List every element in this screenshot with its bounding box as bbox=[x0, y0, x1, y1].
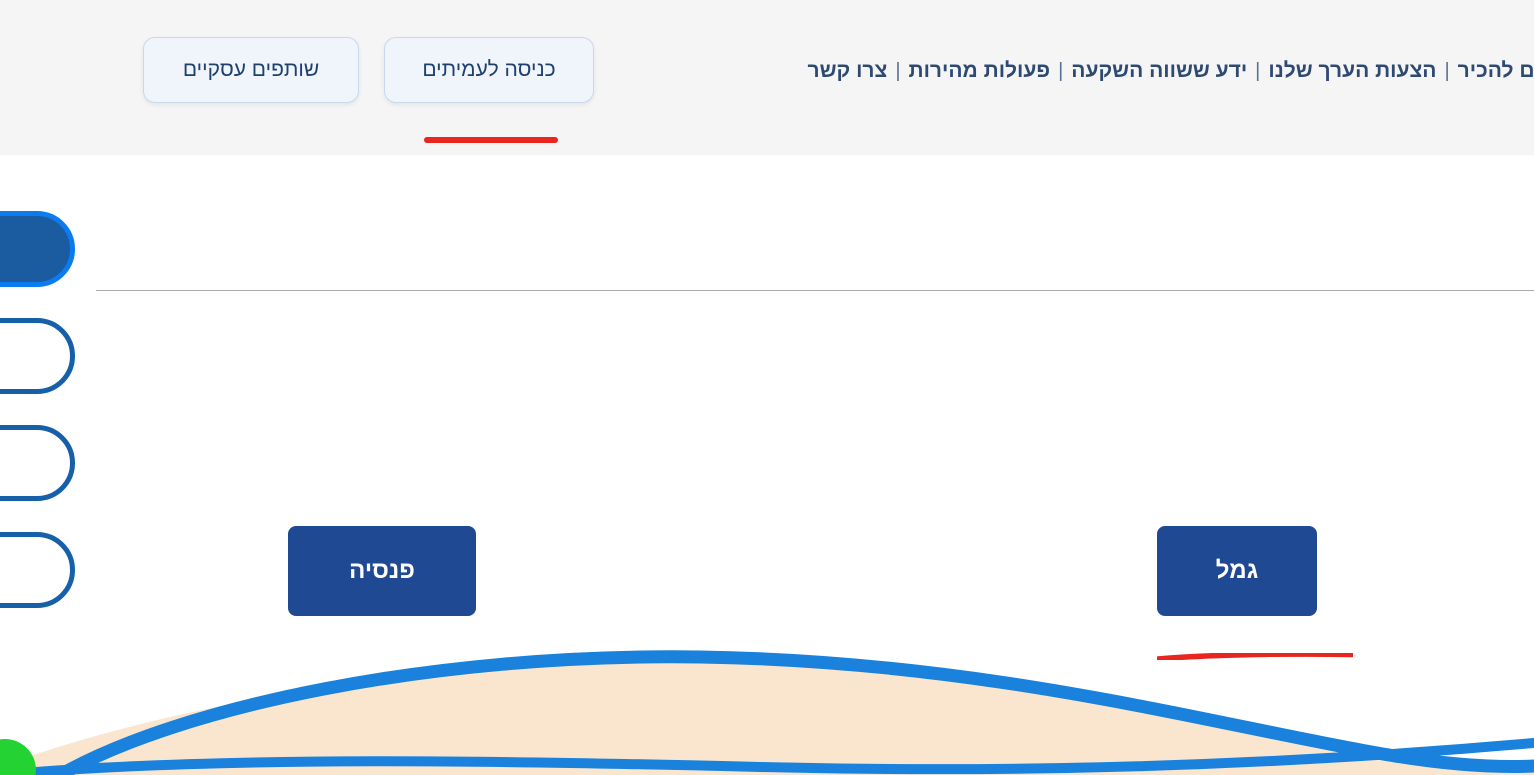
sidebar-item-mobile[interactable]: את bbox=[0, 532, 110, 608]
page-root: נעים להכיר | הצעות הערך שלנו | ידע ששווה… bbox=[0, 0, 1534, 775]
floating-sidebar: צ bbox=[0, 0, 120, 775]
nav-item-quick-actions[interactable]: פעולות מהירות bbox=[903, 50, 1057, 92]
member-login-button[interactable]: כניסה לעמיתים bbox=[384, 37, 594, 103]
nav-separator: | bbox=[1442, 50, 1451, 92]
sidebar-item-forms[interactable]: ה למ bbox=[0, 425, 110, 501]
nav-item-nice-to-meet[interactable]: נעים להכיר bbox=[1452, 50, 1534, 92]
sidebar-item-contact-rep[interactable]: צ bbox=[0, 318, 110, 394]
content-divider bbox=[96, 290, 1534, 291]
nav-item-value-propositions[interactable]: הצעות הערך שלנו bbox=[1262, 50, 1442, 92]
header-action-buttons: כניסה לעמיתים שותפים עסקיים bbox=[143, 37, 594, 103]
business-partners-button[interactable]: שותפים עסקיים bbox=[143, 37, 359, 103]
active-nav-underline bbox=[424, 137, 558, 143]
cta-pension-button[interactable]: פנסיה bbox=[288, 526, 476, 616]
nav-separator: | bbox=[893, 50, 902, 92]
sidebar-pill[interactable]: את bbox=[0, 532, 75, 608]
sidebar-pill[interactable]: צ bbox=[0, 318, 75, 394]
decorative-wave bbox=[0, 635, 1534, 775]
nav-item-knowledge-worth-investing[interactable]: ידע ששווה השקעה bbox=[1065, 50, 1253, 92]
sidebar-item-trophy[interactable] bbox=[0, 211, 110, 287]
site-header: נעים להכיר | הצעות הערך שלנו | ידע ששווה… bbox=[0, 0, 1534, 155]
nav-separator: | bbox=[1253, 50, 1262, 92]
sidebar-pill[interactable]: ה למ bbox=[0, 425, 75, 501]
main-navigation: נעים להכיר | הצעות הערך שלנו | ידע ששווה… bbox=[610, 50, 1534, 92]
nav-item-contact-us[interactable]: צרו קשר bbox=[802, 50, 894, 92]
cta-gemel-button[interactable]: גמל bbox=[1157, 526, 1317, 616]
sidebar-pill[interactable] bbox=[0, 211, 75, 287]
nav-separator: | bbox=[1056, 50, 1065, 92]
